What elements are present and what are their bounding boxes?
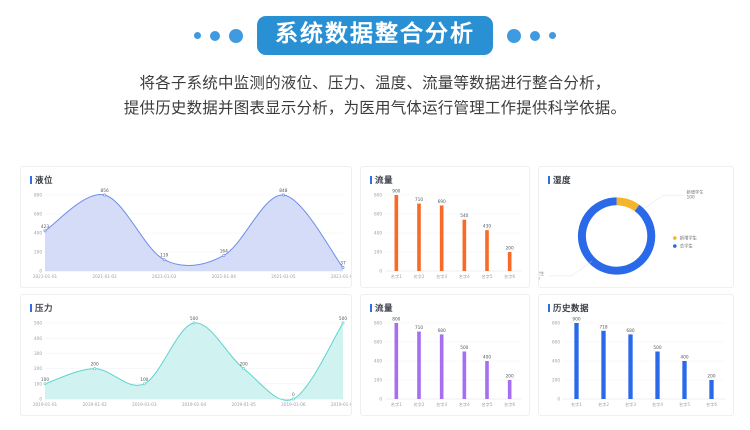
- svg-text:600: 600: [34, 212, 42, 217]
- svg-text:100: 100: [687, 195, 695, 200]
- svg-text:540: 540: [460, 213, 468, 219]
- svg-text:800: 800: [552, 321, 560, 326]
- svg-text:800: 800: [374, 193, 382, 198]
- svg-text:900: 900: [539, 276, 540, 281]
- svg-text:0: 0: [39, 269, 42, 274]
- svg-text:名字5: 名字5: [481, 401, 492, 408]
- svg-text:423: 423: [41, 224, 49, 230]
- svg-text:2019-01-01: 2019-01-01: [33, 402, 58, 407]
- svg-text:500: 500: [653, 345, 661, 351]
- subtitle-line-1: 将各子系统中监测的液位、压力、温度、流量等数据进行整合分析，: [0, 71, 750, 96]
- dot-icon: [530, 31, 540, 41]
- svg-text:37: 37: [340, 260, 346, 266]
- svg-text:900: 900: [572, 317, 580, 323]
- svg-text:名字2: 名字2: [413, 401, 424, 408]
- svg-text:2021-01-05: 2021-01-05: [271, 274, 296, 279]
- page-title: 系统数据整合分析: [257, 16, 493, 55]
- svg-text:2021-01-06: 2021-01-06: [331, 274, 351, 279]
- svg-text:名字3: 名字3: [625, 401, 636, 408]
- svg-text:名字5: 名字5: [679, 401, 690, 408]
- chart-pressure[interactable]: 01002003004005001002019-01-012002019-01-…: [21, 313, 351, 415]
- svg-text:680: 680: [626, 328, 634, 334]
- svg-text:500: 500: [339, 316, 347, 322]
- svg-text:2019-01-02: 2019-01-02: [82, 402, 107, 407]
- svg-text:718: 718: [599, 324, 607, 330]
- svg-text:100: 100: [41, 377, 49, 383]
- card-pressure[interactable]: 压力 01002003004005001002019-01-012002019-…: [20, 294, 352, 416]
- svg-text:300: 300: [34, 351, 42, 356]
- card-liquid-level[interactable]: 液位 02004006008004232021-01-018562021-01-…: [20, 166, 352, 288]
- svg-text:710: 710: [415, 325, 423, 331]
- decorative-dots-left: [194, 29, 243, 43]
- svg-text:新增学生: 新增学生: [680, 235, 698, 242]
- svg-text:400: 400: [680, 355, 688, 361]
- svg-text:名字6: 名字6: [504, 401, 515, 408]
- svg-text:0: 0: [379, 269, 382, 274]
- svg-text:200: 200: [91, 362, 99, 368]
- svg-text:200: 200: [506, 374, 514, 380]
- svg-text:100: 100: [140, 377, 148, 383]
- svg-text:名字4: 名字4: [459, 401, 470, 408]
- svg-text:名字1: 名字1: [571, 401, 582, 408]
- svg-text:2019-01-06: 2019-01-06: [281, 402, 306, 407]
- svg-text:400: 400: [483, 355, 491, 361]
- svg-text:2021-01-04: 2021-01-04: [212, 274, 237, 279]
- svg-text:2019-01-04: 2019-01-04: [182, 402, 207, 407]
- svg-text:总学生: 总学生: [680, 243, 694, 250]
- svg-text:2019-01-05: 2019-01-05: [231, 402, 256, 407]
- svg-text:200: 200: [34, 250, 42, 255]
- decorative-dots-right: [507, 29, 556, 43]
- svg-text:400: 400: [34, 336, 42, 341]
- svg-text:600: 600: [374, 340, 382, 345]
- page-header: 系统数据整合分析: [0, 0, 750, 55]
- chart-flow-purple[interactable]: 0200400600800800名字1710名字2680名字3500名字4400…: [361, 313, 529, 415]
- svg-text:680: 680: [438, 328, 446, 334]
- accent-bar-icon: [370, 176, 372, 184]
- svg-text:400: 400: [552, 359, 560, 364]
- chart-history-blue[interactable]: 0200400600800900名字1718名字2680名字3500名字4400…: [539, 313, 733, 415]
- svg-text:2021-01-03: 2021-01-03: [152, 274, 177, 279]
- svg-text:名字6: 名字6: [504, 273, 515, 280]
- svg-text:600: 600: [552, 340, 560, 345]
- svg-text:500: 500: [460, 345, 468, 351]
- svg-text:名字3: 名字3: [436, 401, 447, 408]
- svg-text:800: 800: [374, 321, 382, 326]
- svg-text:2019-01-07: 2019-01-07: [331, 402, 351, 407]
- svg-text:164: 164: [220, 248, 228, 254]
- svg-text:名字1: 名字1: [391, 401, 402, 408]
- svg-text:2021-01-01: 2021-01-01: [33, 274, 58, 279]
- svg-text:0: 0: [379, 397, 382, 402]
- accent-bar-icon: [548, 304, 550, 312]
- accent-bar-icon: [370, 304, 372, 312]
- page-root: 系统数据整合分析 将各子系统中监测的液位、压力、温度、流量等数据进行整合分析， …: [0, 0, 750, 430]
- svg-text:名字4: 名字4: [459, 273, 470, 280]
- svg-text:名字1: 名字1: [391, 273, 402, 280]
- dashboard-grid: 液位 02004006008004232021-01-018562021-01-…: [20, 166, 732, 416]
- svg-text:2021-01-02: 2021-01-02: [92, 274, 117, 279]
- svg-text:800: 800: [34, 193, 42, 198]
- svg-text:400: 400: [374, 359, 382, 364]
- card-humidity[interactable]: 湿度 新增学生100总学生900新增学生总学生: [538, 166, 734, 288]
- card-history[interactable]: 历史数据 0200400600800900名字1718名字2680名字3500名…: [538, 294, 734, 416]
- svg-text:690: 690: [438, 199, 446, 205]
- svg-text:400: 400: [374, 231, 382, 236]
- dot-icon: [194, 32, 201, 39]
- svg-text:200: 200: [506, 246, 514, 252]
- dot-icon: [210, 31, 220, 41]
- svg-text:200: 200: [374, 250, 382, 255]
- svg-text:名字3: 名字3: [436, 273, 447, 280]
- svg-text:710: 710: [415, 197, 423, 203]
- chart-flow-orange[interactable]: 0200400600800900名字1710名字2690名字3540名字4430…: [361, 185, 529, 287]
- svg-text:200: 200: [707, 374, 715, 380]
- card-flow-orange[interactable]: 流量 0200400600800900名字1710名字2690名字3540名字4…: [360, 166, 530, 288]
- page-subtitle: 将各子系统中监测的液位、压力、温度、流量等数据进行整合分析， 提供历史数据并图表…: [0, 71, 750, 121]
- svg-text:500: 500: [190, 316, 198, 322]
- svg-text:800: 800: [392, 317, 400, 323]
- dot-icon: [507, 29, 521, 43]
- card-flow-purple[interactable]: 流量 0200400600800800名字1710名字2680名字3500名字4…: [360, 294, 530, 416]
- svg-text:总学生: 总学生: [539, 270, 544, 276]
- svg-text:400: 400: [34, 231, 42, 236]
- accent-bar-icon: [548, 176, 550, 184]
- svg-text:名字5: 名字5: [481, 273, 492, 280]
- chart-humidity-donut[interactable]: 新增学生100总学生900新增学生总学生: [539, 185, 733, 287]
- dot-icon: [229, 29, 243, 43]
- svg-text:200: 200: [374, 378, 382, 383]
- svg-text:500: 500: [34, 321, 42, 326]
- svg-text:0: 0: [292, 392, 295, 398]
- svg-text:200: 200: [34, 366, 42, 371]
- svg-text:0: 0: [557, 397, 560, 402]
- svg-text:119: 119: [160, 253, 168, 259]
- svg-text:名字4: 名字4: [652, 401, 663, 408]
- svg-text:名字2: 名字2: [413, 273, 424, 280]
- svg-text:430: 430: [483, 224, 491, 230]
- svg-text:856: 856: [100, 188, 108, 194]
- svg-text:200: 200: [240, 362, 248, 368]
- svg-text:名字2: 名字2: [598, 401, 609, 408]
- svg-text:900: 900: [392, 189, 400, 195]
- dot-icon: [549, 32, 556, 39]
- subtitle-line-2: 提供历史数据并图表显示分析，为医用气体运行管理工作提供科学依据。: [0, 96, 750, 121]
- chart-liquid-level[interactable]: 02004006008004232021-01-018562021-01-021…: [21, 185, 351, 287]
- svg-text:200: 200: [552, 378, 560, 383]
- svg-text:600: 600: [374, 212, 382, 217]
- svg-text:848: 848: [279, 188, 287, 194]
- svg-text:名字6: 名字6: [706, 401, 717, 408]
- accent-bar-icon: [30, 176, 32, 184]
- svg-text:0: 0: [39, 397, 42, 402]
- svg-text:2019-01-03: 2019-01-03: [132, 402, 157, 407]
- accent-bar-icon: [30, 304, 32, 312]
